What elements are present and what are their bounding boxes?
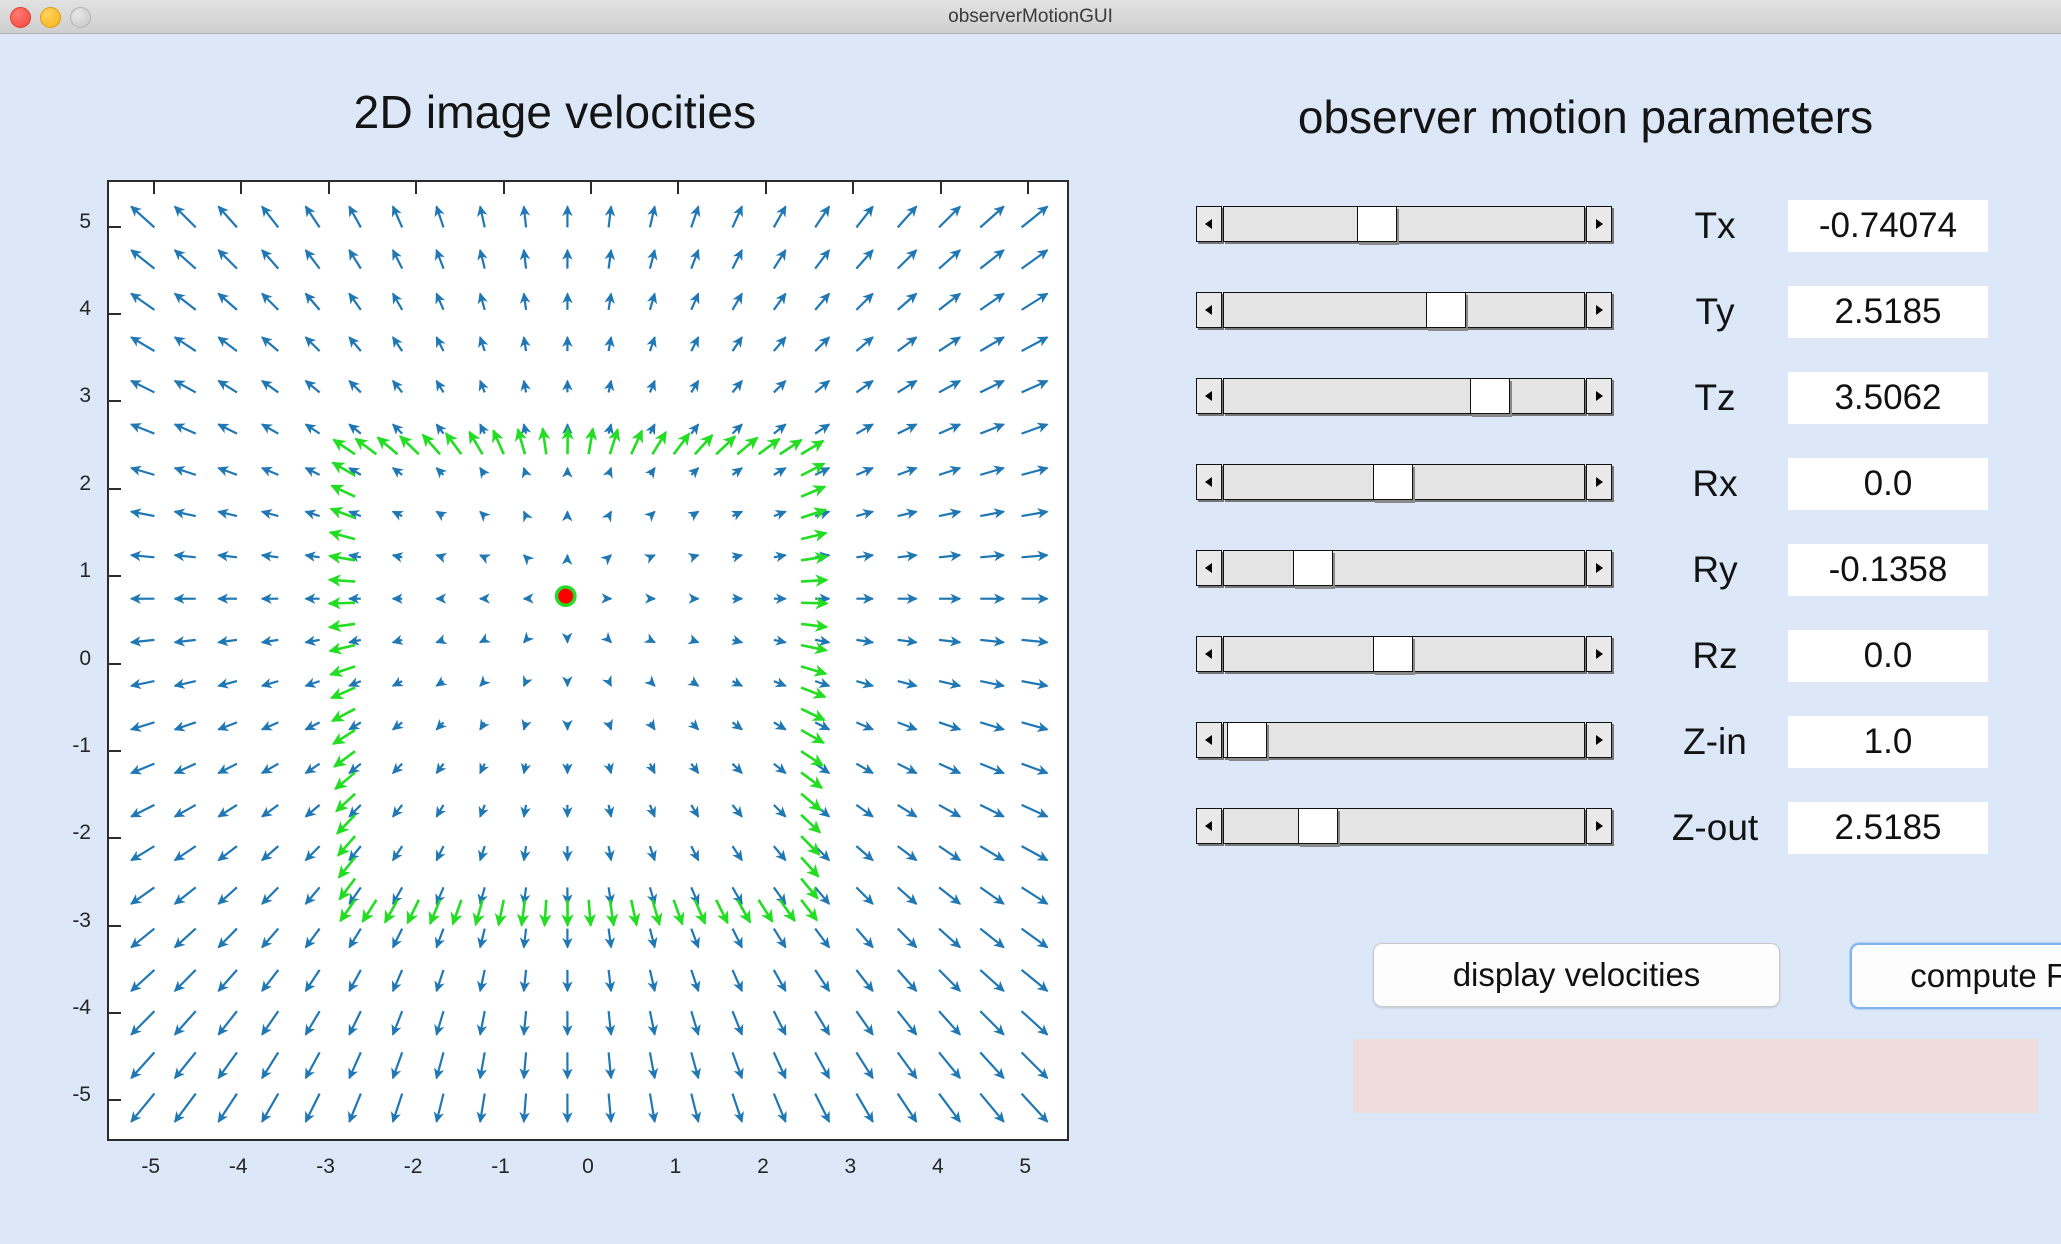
- parameter-row-rx: Rx0.0: [1110, 456, 2061, 516]
- vector-field: [109, 182, 1067, 1139]
- slider-thumb[interactable]: [1426, 292, 1466, 328]
- plot-title: 2D image velocities: [0, 85, 1110, 139]
- y-tick-label: -1: [31, 734, 91, 758]
- y-tick-mark: [109, 1099, 121, 1101]
- plot-panel: 2D image velocities 543210-1-2-3-4-5 -5-…: [0, 33, 1110, 1244]
- x-tick-mark: [240, 182, 242, 194]
- y-tick-mark: [109, 1012, 121, 1014]
- x-tick-label: -2: [383, 1155, 443, 1179]
- y-tick-mark: [109, 925, 121, 927]
- parameters-title: observer motion parameters: [1110, 90, 2061, 144]
- y-tick-label: 4: [31, 297, 91, 321]
- x-tick-mark: [503, 182, 505, 194]
- slider-left-arrow-icon[interactable]: [1196, 206, 1222, 242]
- slider-rz[interactable]: [1196, 636, 1616, 674]
- slider-left-arrow-icon[interactable]: [1196, 808, 1222, 844]
- x-tick-mark: [328, 182, 330, 194]
- parameter-value-ry[interactable]: -0.1358: [1788, 544, 1988, 596]
- parameter-value-ty[interactable]: 2.5185: [1788, 286, 1988, 338]
- slider-z-in[interactable]: [1196, 722, 1616, 760]
- slider-left-arrow-icon[interactable]: [1196, 378, 1222, 414]
- parameters-panel: observer motion parameters Tx-0.74074Ty2…: [1110, 33, 2061, 1244]
- parameter-label-tz: Tz: [1650, 370, 1780, 426]
- slider-ry[interactable]: [1196, 550, 1616, 588]
- message-box: [1353, 1039, 2038, 1113]
- parameter-label-tx: Tx: [1650, 198, 1780, 254]
- x-tick-mark: [1027, 182, 1029, 194]
- x-tick-label: -5: [121, 1155, 181, 1179]
- x-tick-label: 3: [820, 1155, 880, 1179]
- parameter-value-z-in[interactable]: 1.0: [1788, 716, 1988, 768]
- x-tick-mark: [590, 182, 592, 194]
- slider-right-arrow-icon[interactable]: [1586, 378, 1612, 414]
- foe-marker-dot: [558, 589, 573, 604]
- parameter-label-z-in: Z-in: [1650, 714, 1780, 770]
- y-tick-label: -2: [31, 821, 91, 845]
- y-tick-mark: [109, 313, 121, 315]
- y-tick-mark: [109, 226, 121, 228]
- slider-thumb[interactable]: [1293, 550, 1333, 586]
- x-tick-mark: [940, 182, 942, 194]
- slider-left-arrow-icon[interactable]: [1196, 636, 1222, 672]
- parameter-value-rz[interactable]: 0.0: [1788, 630, 1988, 682]
- display-velocities-button[interactable]: display velocities: [1373, 943, 1780, 1007]
- x-tick-label: 1: [645, 1155, 705, 1179]
- y-tick-mark: [109, 575, 121, 577]
- slider-track[interactable]: [1223, 550, 1585, 586]
- y-tick-label: 0: [31, 647, 91, 671]
- slider-thumb[interactable]: [1357, 206, 1397, 242]
- slider-thumb[interactable]: [1373, 636, 1413, 672]
- parameter-value-tx[interactable]: -0.74074: [1788, 200, 1988, 252]
- parameter-label-ry: Ry: [1650, 542, 1780, 598]
- y-tick-mark: [109, 837, 121, 839]
- x-tick-mark: [415, 182, 417, 194]
- y-tick-label: -5: [31, 1083, 91, 1107]
- slider-track[interactable]: [1223, 378, 1585, 414]
- parameter-label-ty: Ty: [1650, 284, 1780, 340]
- slider-right-arrow-icon[interactable]: [1586, 464, 1612, 500]
- parameter-value-z-out[interactable]: 2.5185: [1788, 802, 1988, 854]
- y-tick-label: -4: [31, 996, 91, 1020]
- slider-z-out[interactable]: [1196, 808, 1616, 846]
- slider-tx[interactable]: [1196, 206, 1616, 244]
- y-tick-mark: [109, 488, 121, 490]
- parameter-row-ty: Ty2.5185: [1110, 284, 2061, 344]
- slider-tz[interactable]: [1196, 378, 1616, 416]
- y-tick-label: 3: [31, 384, 91, 408]
- parameter-value-tz[interactable]: 3.5062: [1788, 372, 1988, 424]
- parameter-row-ry: Ry-0.1358: [1110, 542, 2061, 602]
- slider-right-arrow-icon[interactable]: [1586, 550, 1612, 586]
- x-tick-mark: [852, 182, 854, 194]
- slider-rx[interactable]: [1196, 464, 1616, 502]
- x-tick-mark: [677, 182, 679, 194]
- parameter-row-rz: Rz0.0: [1110, 628, 2061, 688]
- x-tick-mark: [153, 182, 155, 194]
- slider-ty[interactable]: [1196, 292, 1616, 330]
- slider-left-arrow-icon[interactable]: [1196, 550, 1222, 586]
- y-tick-label: 2: [31, 472, 91, 496]
- parameter-row-z-in: Z-in1.0: [1110, 714, 2061, 774]
- x-tick-label: 5: [995, 1155, 1055, 1179]
- slider-track[interactable]: [1223, 206, 1585, 242]
- x-tick-label: 0: [558, 1155, 618, 1179]
- y-tick-label: 5: [31, 210, 91, 234]
- parameter-label-rx: Rx: [1650, 456, 1780, 512]
- parameter-value-rx[interactable]: 0.0: [1788, 458, 1988, 510]
- slider-right-arrow-icon[interactable]: [1586, 292, 1612, 328]
- compute-foe-button[interactable]: compute FOE: [1850, 943, 2061, 1009]
- y-tick-mark: [109, 400, 121, 402]
- window-title-bar: observerMotionGUI: [0, 0, 2061, 34]
- slider-track[interactable]: [1223, 808, 1585, 844]
- slider-track[interactable]: [1223, 464, 1585, 500]
- parameter-row-tz: Tz3.5062: [1110, 370, 2061, 430]
- x-tick-label: -3: [296, 1155, 356, 1179]
- x-tick-label: 4: [908, 1155, 968, 1179]
- slider-right-arrow-icon[interactable]: [1586, 808, 1612, 844]
- slider-thumb[interactable]: [1298, 808, 1338, 844]
- window-title: observerMotionGUI: [0, 0, 2061, 33]
- slider-left-arrow-icon[interactable]: [1196, 722, 1222, 758]
- slider-thumb[interactable]: [1373, 464, 1413, 500]
- slider-track[interactable]: [1223, 292, 1585, 328]
- parameter-row-tx: Tx-0.74074: [1110, 198, 2061, 258]
- y-tick-label: 1: [31, 559, 91, 583]
- parameter-label-z-out: Z-out: [1650, 800, 1780, 856]
- y-tick-mark: [109, 750, 121, 752]
- slider-left-arrow-icon[interactable]: [1196, 464, 1222, 500]
- slider-thumb[interactable]: [1470, 378, 1510, 414]
- slider-right-arrow-icon[interactable]: [1586, 722, 1612, 758]
- parameter-row-z-out: Z-out2.5185: [1110, 800, 2061, 860]
- x-tick-label: -1: [471, 1155, 531, 1179]
- y-tick-mark: [109, 663, 121, 665]
- slider-track[interactable]: [1223, 722, 1585, 758]
- slider-right-arrow-icon[interactable]: [1586, 206, 1612, 242]
- slider-left-arrow-icon[interactable]: [1196, 292, 1222, 328]
- x-tick-label: 2: [733, 1155, 793, 1179]
- x-tick-label: -4: [208, 1155, 268, 1179]
- x-tick-mark: [765, 182, 767, 194]
- parameter-label-rz: Rz: [1650, 628, 1780, 684]
- y-tick-label: -3: [31, 909, 91, 933]
- slider-track[interactable]: [1223, 636, 1585, 672]
- velocity-plot[interactable]: [107, 180, 1069, 1141]
- action-buttons: display velocities compute FOE close: [1353, 943, 2061, 1143]
- slider-right-arrow-icon[interactable]: [1586, 636, 1612, 672]
- slider-thumb[interactable]: [1227, 722, 1267, 758]
